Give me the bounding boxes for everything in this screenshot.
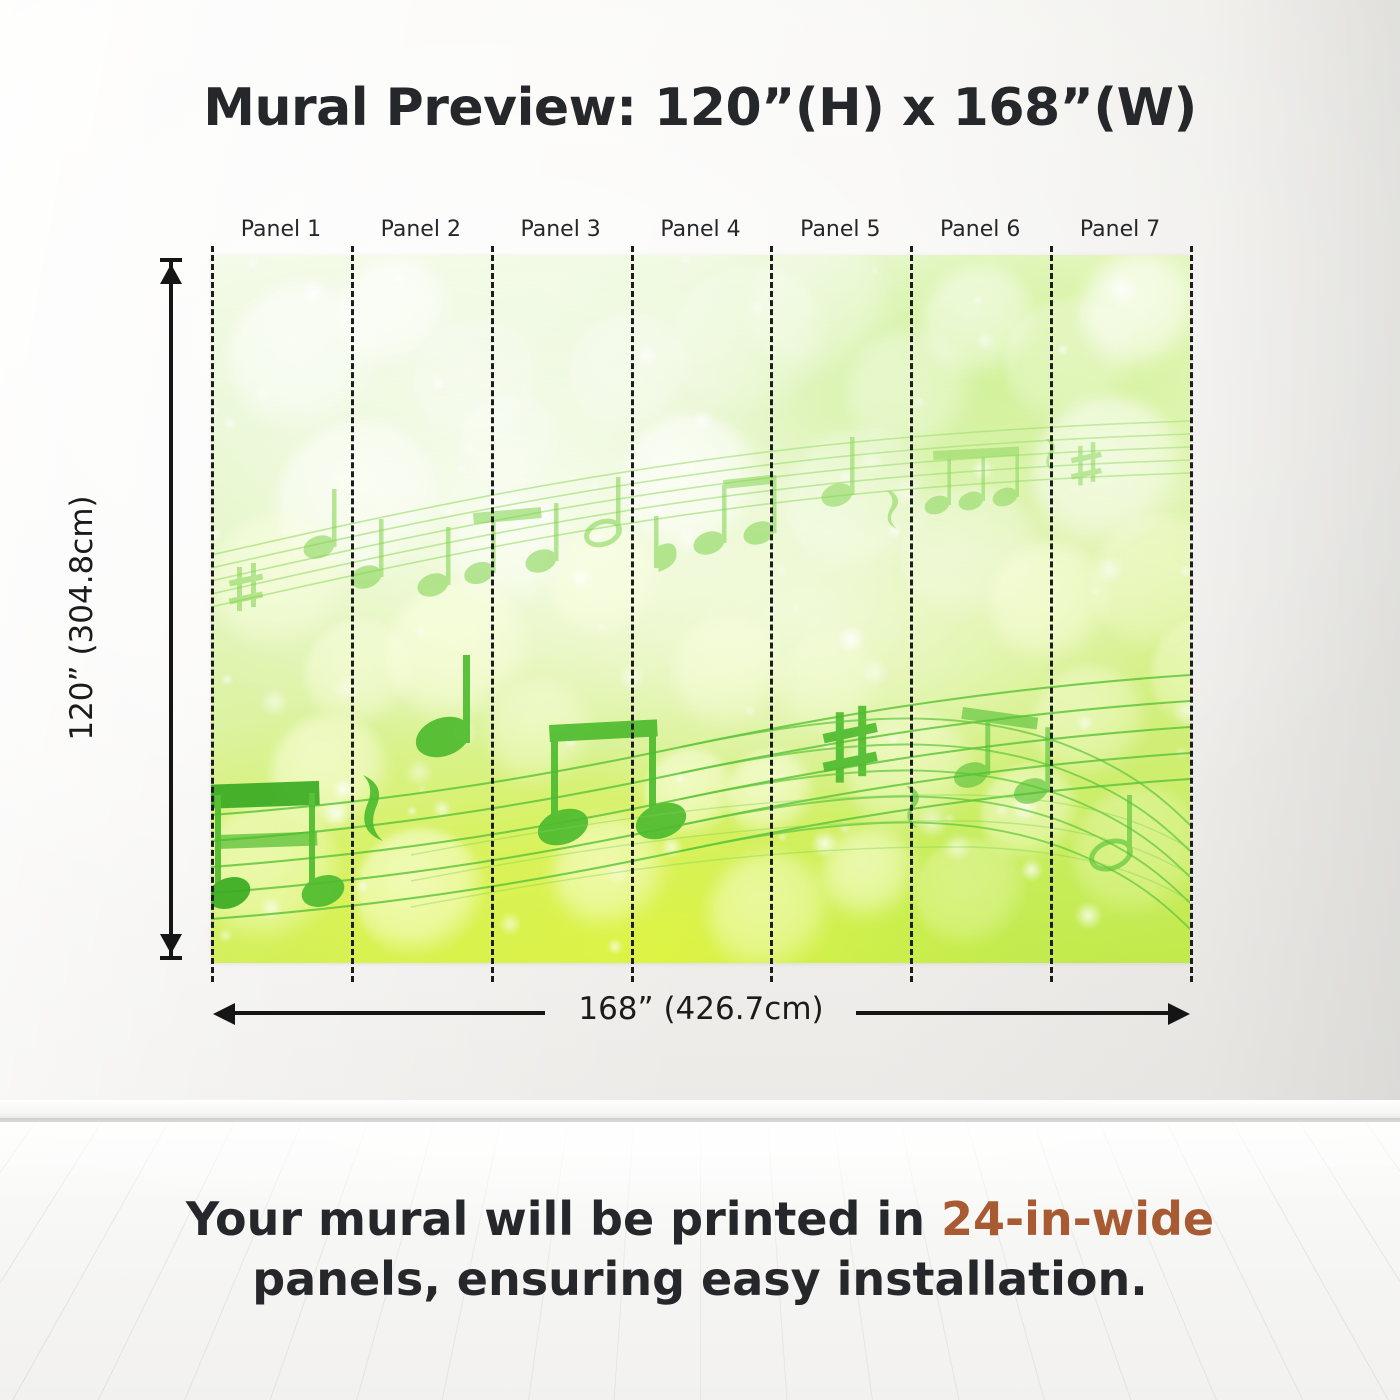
panel-divider-6 <box>1050 246 1053 982</box>
panel-label-5: Panel 5 <box>770 217 910 242</box>
width-dimension-line-left <box>233 1011 545 1015</box>
mural-light-sheen <box>211 255 1190 963</box>
panel-divider-4 <box>770 246 773 982</box>
mural-preview-scene: Mural Preview: 120”(H) x 168”(W) <box>0 0 1400 1400</box>
caption-line-1: Your mural will be printed in 24-in-wide <box>0 1190 1400 1250</box>
height-dimension-line <box>169 258 173 960</box>
height-arrow-up-icon <box>160 264 182 284</box>
width-arrow-right-icon <box>1168 1003 1190 1025</box>
panel-label-7: Panel 7 <box>1050 217 1190 242</box>
panel-label-2: Panel 2 <box>351 217 491 242</box>
panel-label-1: Panel 1 <box>211 217 351 242</box>
width-arrow-left-icon <box>213 1003 235 1025</box>
height-arrow-down-icon <box>160 934 182 954</box>
caption-line-2: panels, ensuring easy installation. <box>0 1250 1400 1310</box>
panel-divider-7 <box>1190 246 1193 982</box>
panel-divider-0 <box>211 246 214 982</box>
mural-artwork-preview[interactable] <box>211 255 1190 963</box>
caption-accent-text: 24-in-wide <box>941 1192 1214 1246</box>
panel-divider-5 <box>910 246 913 982</box>
caption-text-before: Your mural will be printed in <box>186 1192 941 1246</box>
panel-divider-1 <box>351 246 354 982</box>
width-dimension-label: 168” (426.7cm) <box>545 991 857 1027</box>
panel-label-4: Panel 4 <box>631 217 771 242</box>
height-dimension-label: 120” (304.8cm) <box>64 453 100 783</box>
panel-label-3: Panel 3 <box>491 217 631 242</box>
page-title: Mural Preview: 120”(H) x 168”(W) <box>0 78 1400 138</box>
panel-label-6: Panel 6 <box>910 217 1050 242</box>
panel-divider-3 <box>631 246 634 982</box>
panel-divider-2 <box>491 246 494 982</box>
footer-caption: Your mural will be printed in 24-in-wide… <box>0 1190 1400 1310</box>
width-dimension-line-right <box>856 1011 1168 1015</box>
